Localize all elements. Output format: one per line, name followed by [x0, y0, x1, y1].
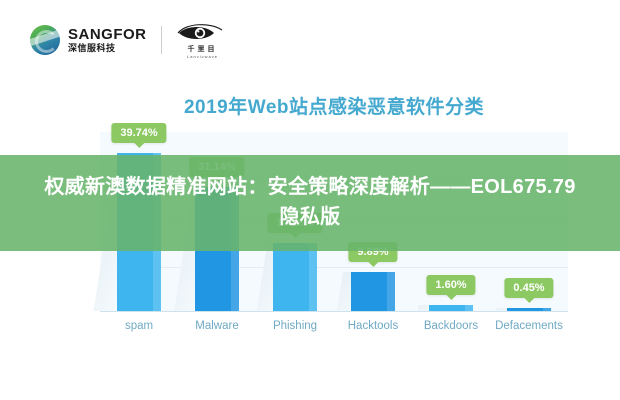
x-label-defacements: Defacements — [490, 320, 568, 332]
overlay-headline: 权威新澳数据精准网站：安全策略深度解析——EOL675.79隐私版 — [40, 173, 580, 232]
bar-phishing[interactable]: 17.18% — [273, 243, 317, 311]
x-axis-line — [100, 311, 568, 312]
bar-value-callout: 0.45% — [504, 278, 553, 298]
x-label-phishing: Phishing — [256, 320, 334, 332]
screenshot-root: SANGFOR 深信服科技 千里目 Lanvicwave 2019年Web站点感… — [0, 0, 620, 400]
partner-name-en: Lanvicwave — [187, 54, 218, 59]
x-label-spam: spam — [100, 320, 178, 332]
brand-header: SANGFOR 深信服科技 千里目 Lanvicwave — [30, 20, 230, 60]
partner-logo: 千里目 Lanvicwave — [176, 21, 230, 59]
sangfor-wordmark: SANGFOR 深信服科技 — [68, 27, 147, 53]
bar-side-face — [465, 305, 474, 311]
x-label-backdoors: Backdoors — [412, 320, 490, 332]
bar-backdoors[interactable]: 1.60% — [429, 305, 473, 311]
overlay-banner: 权威新澳数据精准网站：安全策略深度解析——EOL675.79隐私版 — [0, 155, 620, 251]
sangfor-name-cn: 深信服科技 — [68, 44, 147, 53]
bar-value-callout: 1.60% — [426, 275, 475, 295]
partner-name-cn: 千里目 — [188, 44, 218, 54]
bar-side-face — [543, 308, 552, 311]
brand-divider — [161, 26, 162, 54]
bar-value-callout: 39.74% — [111, 123, 166, 143]
chart-title: 2019年Web站点感染恶意软件分类 — [100, 92, 568, 119]
sangfor-name: SANGFOR — [68, 27, 147, 42]
bar-defacements[interactable]: 0.45% — [507, 308, 551, 311]
bar-side-face — [309, 243, 318, 311]
bar-side-face — [387, 272, 396, 311]
x-axis-labels: spamMalwarePhishingHacktoolsBackdoorsDef… — [100, 320, 568, 332]
sangfor-logo: SANGFOR 深信服科技 — [30, 25, 147, 55]
x-label-malware: Malware — [178, 320, 256, 332]
sangfor-globe-icon — [30, 25, 60, 55]
eye-icon — [176, 21, 230, 43]
bar-hacktools[interactable]: 9.89% — [351, 272, 395, 311]
x-label-hacktools: Hacktools — [334, 320, 412, 332]
